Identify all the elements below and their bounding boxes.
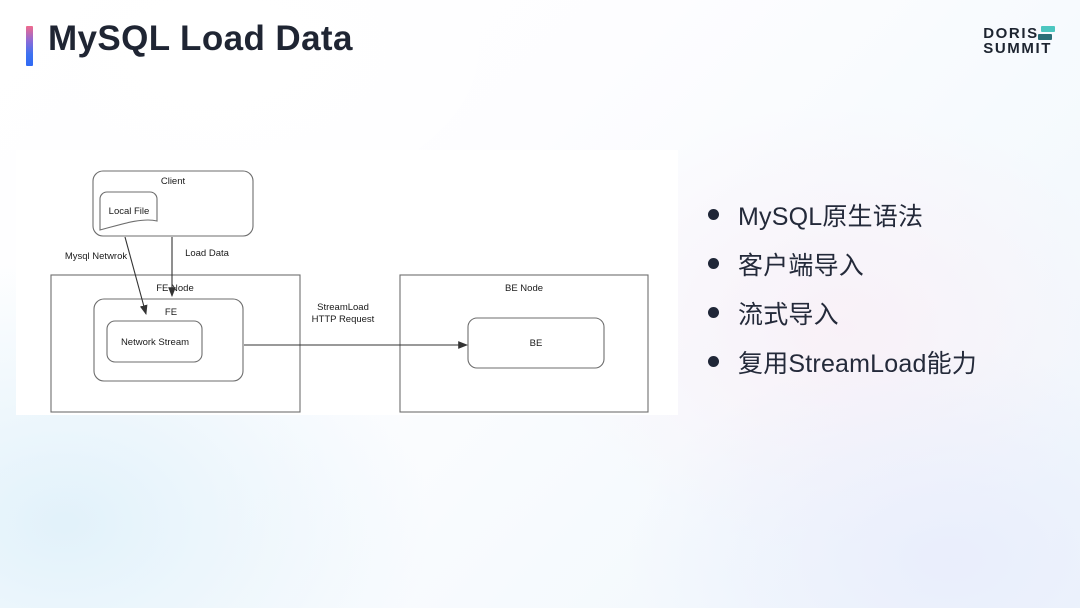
doris-mark-bottom-bar [1038, 34, 1052, 40]
edge-load-data-label: Load Data [185, 248, 230, 259]
doris-summit-logo: DORIS SUMMIT [983, 26, 1052, 57]
edge-mysql-network-label: Mysql Netwrok [65, 251, 128, 262]
list-item: 客户端导入 [708, 239, 1058, 288]
node-be-label: BE [530, 338, 543, 349]
node-client-label: Client [161, 176, 186, 187]
edge-streamload-label-line2: HTTP Request [312, 314, 375, 325]
bullet-label: MySQL原生语法 [738, 197, 923, 233]
bullet-dot-icon [708, 258, 719, 269]
doris-mark-top-bar [1041, 26, 1055, 32]
node-network-stream-label: Network Stream [121, 337, 189, 348]
list-item: 流式导入 [708, 288, 1058, 337]
diagram-svg: Client Local File FE Node FE Network Str… [16, 150, 678, 415]
bullet-dot-icon [708, 356, 719, 367]
slide-root: MySQL Load Data DORIS SUMMIT Client Loca… [0, 0, 1080, 608]
list-item: MySQL原生语法 [708, 190, 1058, 239]
bullet-dot-icon [708, 307, 719, 318]
node-be-node-label: BE Node [505, 283, 543, 294]
bullet-label: 流式导入 [738, 295, 839, 331]
bullet-label: 复用StreamLoad能力 [738, 344, 977, 380]
title-accent-bar [26, 26, 33, 66]
node-fe-label: FE [165, 307, 177, 318]
bullet-dot-icon [708, 209, 719, 220]
node-fe-node-label: FE Node [156, 283, 194, 294]
list-item: 复用StreamLoad能力 [708, 337, 1058, 386]
node-local-file-label: Local File [109, 206, 150, 217]
page-title: MySQL Load Data [48, 19, 353, 59]
doris-mark-icon [1038, 26, 1055, 42]
node-be-node-box [400, 275, 648, 412]
logo-line-summit: SUMMIT [983, 41, 1052, 56]
edge-streamload-label-line1: StreamLoad [317, 302, 369, 313]
feature-bullet-list: MySQL原生语法 客户端导入 流式导入 复用StreamLoad能力 [708, 190, 1058, 386]
architecture-diagram: Client Local File FE Node FE Network Str… [16, 150, 678, 415]
bullet-label: 客户端导入 [738, 246, 864, 282]
